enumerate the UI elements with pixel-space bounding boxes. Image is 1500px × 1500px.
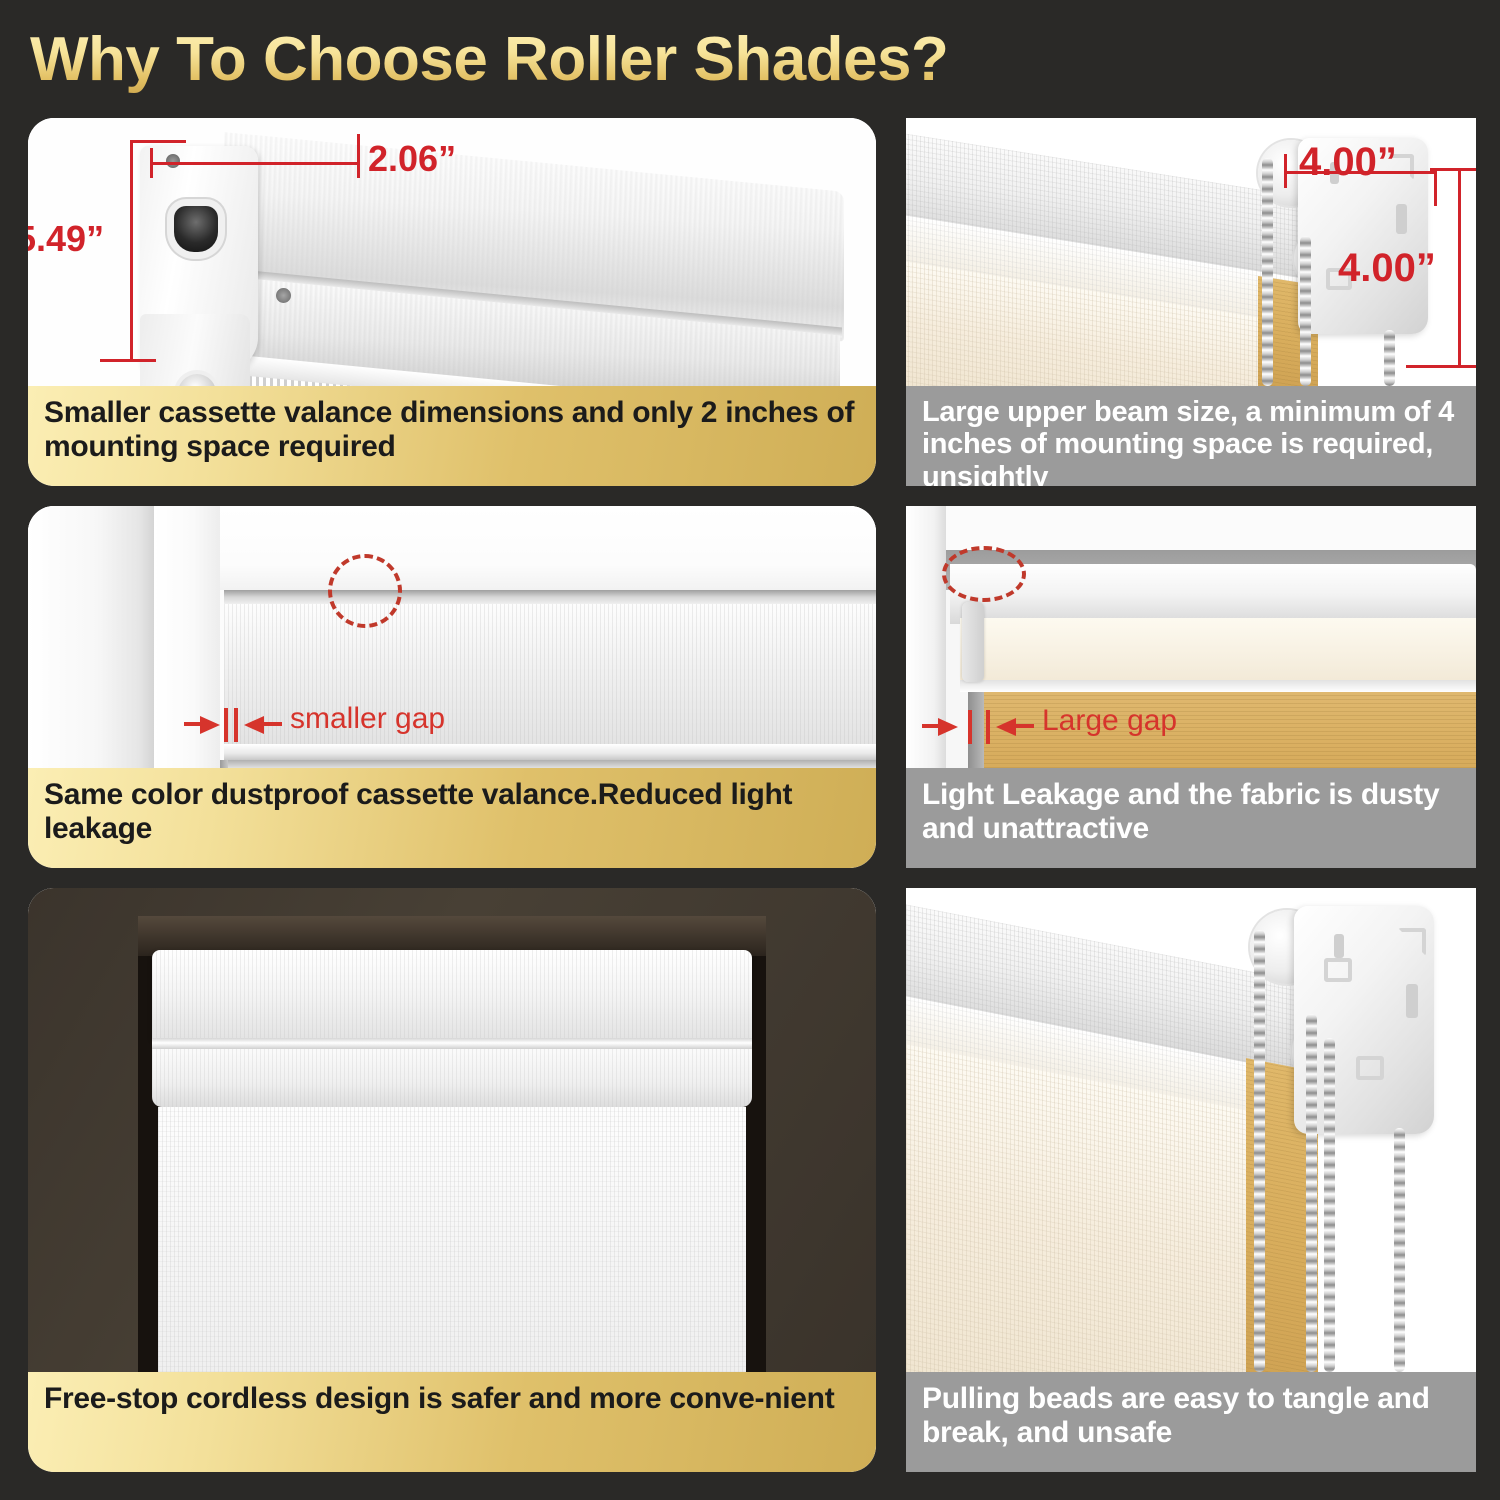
panel-cordless-design: Free-stop cordless design is safer and m… [28, 888, 876, 1472]
bracket-notch-icon [1398, 928, 1426, 956]
bracket-slot [1396, 204, 1407, 234]
bracket-hook-icon [1356, 1056, 1384, 1080]
side-gap [220, 760, 228, 768]
gap-marker-bar [968, 710, 972, 744]
panel-3-photo: smaller gap [28, 506, 876, 768]
gap-arrow-tail [184, 722, 202, 726]
panel-4-photo: Large gap [906, 506, 1476, 768]
bead-chain-front [1262, 158, 1273, 386]
bracket-slot [1334, 934, 1344, 958]
panel-1-photo: 2.06” 5.49” [28, 118, 876, 386]
panel-5-caption: Free-stop cordless design is safer and m… [28, 1372, 876, 1472]
panel-5-photo [28, 888, 876, 1372]
gap-marker-bar [986, 710, 990, 744]
infographic-root: Why To Choose Roller Shades? 2.06” [0, 0, 1500, 1500]
page-title: Why To Choose Roller Shades? [30, 20, 1130, 100]
beam-height-tick-top [1430, 168, 1476, 171]
bead-chain-mid-2 [1324, 1038, 1335, 1372]
beam-height-tick-bottom [1406, 365, 1476, 368]
smaller-gap-label: smaller gap [290, 702, 445, 736]
height-dimension-tick-top [130, 140, 186, 143]
wall-top [906, 506, 1476, 550]
gap-marker-bar [224, 708, 228, 742]
height-dimension-line [130, 140, 133, 362]
bracket-hook-icon [1324, 958, 1352, 982]
cassette-valance-upper [152, 950, 752, 1038]
screw-icon [166, 154, 180, 168]
panel-2-caption: Large upper beam size, a minimum of 4 in… [906, 386, 1476, 486]
large-gap-label: Large gap [1042, 704, 1177, 738]
shade-fabric-cream [960, 618, 1476, 680]
screw-icon [276, 288, 291, 303]
panel-pulling-beads: Pulling beads are easy to tangle and bre… [906, 888, 1476, 1472]
window-head-jamb [220, 506, 876, 590]
beam-height-dimension-label: 4.00” [1338, 246, 1436, 291]
bead-chain-mid [1306, 1014, 1317, 1372]
beam-width-tick-left [1284, 154, 1287, 188]
height-dimension-tick-bottom [100, 359, 156, 362]
width-dimension-label: 2.06” [368, 138, 456, 180]
valance-seam [152, 1038, 752, 1049]
width-dimension-line [150, 162, 360, 165]
beam-width-dimension-label: 4.00” [1299, 140, 1397, 185]
gap-arrow-left-icon [244, 716, 264, 734]
beam-height-dimension-line [1458, 168, 1461, 368]
panel-smaller-cassette: 2.06” 5.49” Smaller cassette valance dim… [28, 118, 876, 486]
gap-arrow-tail [1016, 724, 1034, 728]
gap-arrow-right-icon [938, 718, 958, 736]
bracket-slot [1406, 984, 1418, 1018]
roller-tube [950, 564, 1476, 624]
panel-dustproof-cassette: smaller gap Same color dustproof cassett… [28, 506, 876, 868]
panel-3-caption: Same color dustproof cassette valance.Re… [28, 768, 876, 868]
panel-1-caption: Smaller cassette valance dimensions and … [28, 386, 876, 486]
fabric-edge [960, 680, 1476, 692]
panel-6-caption: Pulling beads are easy to tangle and bre… [906, 1372, 1476, 1472]
cassette-top-edge [224, 590, 876, 604]
bead-chain-back [1384, 330, 1395, 386]
bead-chain-mid [1300, 236, 1311, 386]
roller-bracket-hook [962, 602, 984, 682]
gap-arrow-tail [264, 722, 282, 726]
panel-4-caption: Light Leakage and the fabric is dusty an… [906, 768, 1476, 868]
highlight-circle-icon [942, 546, 1026, 602]
cassette-valance-lower [152, 1049, 752, 1107]
cassette-gap-line [224, 760, 876, 768]
panel-6-photo [906, 888, 1476, 1372]
highlight-circle-icon [328, 554, 402, 628]
gap-marker-bar [234, 708, 238, 742]
window-frame-outer [28, 506, 154, 768]
width-dimension-tick-left [150, 148, 153, 178]
panel-2-photo: 4.00” 4.00” [906, 118, 1476, 386]
cassette-roller-knob [174, 206, 218, 252]
cassette-lip [224, 744, 876, 760]
panel-large-upper-beam: 4.00” 4.00” Large upper beam size, a min… [906, 118, 1476, 486]
height-dimension-label: 5.49” [28, 218, 104, 260]
bead-chain-front [1254, 930, 1265, 1372]
bead-chain-back [1394, 1128, 1405, 1372]
width-dimension-tick-right [357, 134, 360, 178]
gap-arrow-tail [922, 724, 940, 728]
gap-arrow-left-icon [996, 718, 1016, 736]
roller-shade-fabric [158, 1107, 746, 1372]
panel-light-leakage: Large gap Light Leakage and the fabric i… [906, 506, 1476, 868]
gap-arrow-right-icon [200, 716, 220, 734]
beam-width-tick-right [1434, 168, 1437, 206]
